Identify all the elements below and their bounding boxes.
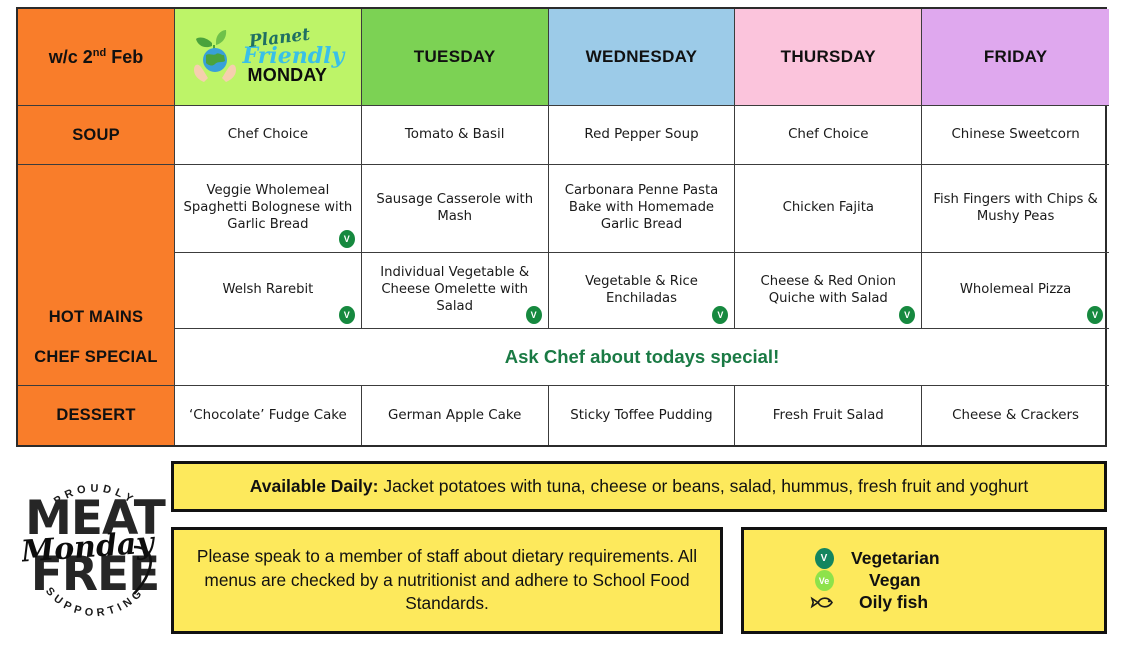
hotmain2-tuesday: Individual Vegetable & Cheese Omelette w… bbox=[362, 253, 549, 329]
vegetarian-badge: V bbox=[339, 306, 355, 324]
soup-monday: Chef Choice bbox=[175, 106, 362, 165]
dessert-friday: Cheese & Crackers bbox=[922, 386, 1109, 445]
legend-row-oily-fish: Oily fish bbox=[809, 592, 1039, 613]
dietary-notice-text: Please speak to a member of staff about … bbox=[186, 545, 708, 617]
hot-mains-row-1: HOT MAINS Veggie Wholemeal Spaghetti Bol… bbox=[18, 165, 1105, 253]
dietary-notice-panel: Please speak to a member of staff about … bbox=[171, 527, 723, 634]
logo-monday-word: MONDAY bbox=[248, 66, 328, 84]
dessert-monday: ‘Chocolate’ Fudge Cake bbox=[175, 386, 362, 445]
chef-special-row: CHEF SPECIAL Ask Chef about todays speci… bbox=[18, 329, 1105, 386]
hotmain1-tuesday: Sausage Casserole with Mash bbox=[362, 165, 549, 253]
vegetarian-badge: V bbox=[899, 306, 915, 324]
dessert-tuesday: German Apple Cake bbox=[362, 386, 549, 445]
dessert-row: DESSERT ‘Chocolate’ Fudge Cake German Ap… bbox=[18, 386, 1105, 445]
fish-icon bbox=[809, 594, 839, 611]
hot-mains-row-2: Welsh RarebitV Individual Vegetable & Ch… bbox=[18, 253, 1105, 329]
row-label-soup: SOUP bbox=[18, 106, 175, 165]
vegan-badge-icon: Ve bbox=[809, 570, 839, 591]
legend-panel: V Vegetarian Ve Vegan Oily fish bbox=[741, 527, 1107, 634]
vegetarian-badge-icon: V bbox=[809, 548, 839, 569]
row-label-dessert: DESSERT bbox=[18, 386, 175, 445]
legend-label-oily-fish: Oily fish bbox=[851, 592, 1039, 613]
hotmain2-monday: Welsh RarebitV bbox=[175, 253, 362, 329]
week-commencing-cell: w/c 2nd Feb bbox=[18, 9, 175, 106]
meat-free-monday-logo: PROUDLY SUPPORTING MEAT FREE Monday bbox=[22, 455, 168, 637]
soup-tuesday: Tomato & Basil bbox=[362, 106, 549, 165]
globe-in-hands-icon bbox=[192, 30, 240, 84]
hotmain1-monday: Veggie Wholemeal Spaghetti Bolognese wit… bbox=[175, 165, 362, 253]
hotmain1-friday: Fish Fingers with Chips & Mushy Peas bbox=[922, 165, 1109, 253]
available-daily-rest: Jacket potatoes with tuna, cheese or bea… bbox=[378, 476, 1028, 496]
soup-friday: Chinese Sweetcorn bbox=[922, 106, 1109, 165]
available-daily-panel: Available Daily: Jacket potatoes with tu… bbox=[171, 461, 1107, 512]
soup-wednesday: Red Pepper Soup bbox=[549, 106, 736, 165]
hotmain2-friday: Wholemeal PizzaV bbox=[922, 253, 1109, 329]
planet-friendly-monday-logo: Planet Friendly MONDAY bbox=[175, 9, 361, 105]
vegetarian-badge: V bbox=[1087, 306, 1103, 324]
row-label-chef-special: CHEF SPECIAL bbox=[18, 329, 175, 386]
available-daily-text: Available Daily: Jacket potatoes with tu… bbox=[250, 476, 1029, 497]
day-header-thursday: THURSDAY bbox=[735, 9, 922, 106]
legend-label-vegan: Vegan bbox=[851, 570, 1039, 591]
day-header-wednesday: WEDNESDAY bbox=[549, 9, 736, 106]
soup-row: SOUP Chef Choice Tomato & Basil Red Pepp… bbox=[18, 106, 1105, 165]
row-label-hot-mains: HOT MAINS bbox=[18, 165, 175, 329]
available-daily-bold: Available Daily: bbox=[250, 476, 379, 496]
vegetarian-badge: V bbox=[526, 306, 542, 324]
hotmain1-wednesday: Carbonara Penne Pasta Bake with Homemade… bbox=[549, 165, 736, 253]
dessert-wednesday: Sticky Toffee Pudding bbox=[549, 386, 736, 445]
day-header-friday: FRIDAY bbox=[922, 9, 1109, 106]
legend-row-vegan: Ve Vegan bbox=[809, 570, 1039, 591]
vegetarian-badge: V bbox=[712, 306, 728, 324]
day-header-monday: Planet Friendly MONDAY bbox=[175, 9, 362, 106]
day-header-tuesday: TUESDAY bbox=[362, 9, 549, 106]
planet-friendly-monday-text: Planet Friendly MONDAY bbox=[243, 31, 345, 84]
soup-thursday: Chef Choice bbox=[735, 106, 922, 165]
vegetarian-badge: V bbox=[339, 230, 355, 248]
table-header-row: w/c 2nd Feb bbox=[18, 9, 1105, 106]
menu-page: w/c 2nd Feb bbox=[0, 0, 1122, 651]
week-commencing-label: w/c 2nd Feb bbox=[49, 47, 144, 68]
legend-label-vegetarian: Vegetarian bbox=[851, 548, 1039, 569]
legend-row-vegetarian: V Vegetarian bbox=[809, 548, 1039, 569]
hotmain2-wednesday: Vegetable & Rice EnchiladasV bbox=[549, 253, 736, 329]
dessert-thursday: Fresh Fruit Salad bbox=[735, 386, 922, 445]
weekly-menu-table: w/c 2nd Feb bbox=[16, 7, 1107, 447]
hotmain1-thursday: Chicken Fajita bbox=[735, 165, 922, 253]
hotmain2-thursday: Cheese & Red Onion Quiche with SaladV bbox=[735, 253, 922, 329]
chef-special-text: Ask Chef about todays special! bbox=[175, 329, 1109, 386]
